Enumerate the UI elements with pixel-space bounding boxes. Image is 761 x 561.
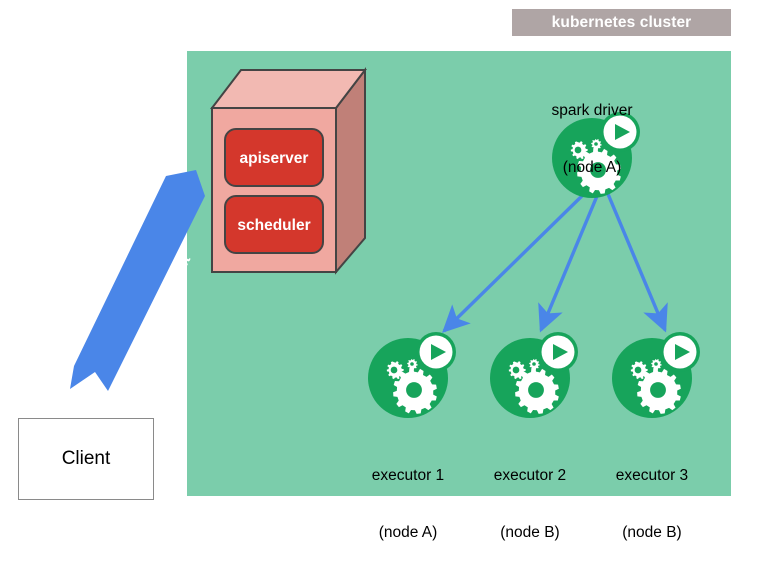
apiserver-label: apiserver [240,150,309,167]
executor-1-title: executor 1 [348,467,468,486]
executor-3-label: executor 3 (node B) [592,429,712,561]
control-plane-cube: apiserver scheduler [212,70,365,272]
scheduler-label: scheduler [237,217,310,234]
connector-driver-executor-3 [608,194,665,330]
spark-submit-arrow [70,170,205,391]
executor-1-label: executor 1 (node A) [348,429,468,561]
executor-2-label: executor 2 (node B) [470,429,590,561]
executor-2-node [490,332,578,418]
executor-1-node [368,332,456,418]
executor-2-title: executor 2 [470,467,590,486]
executor-3-title: executor 3 [592,467,712,486]
connector-driver-executor-1 [444,192,586,331]
spark-driver-label: spark driver (node A) [532,64,652,196]
connector-driver-executor-2 [541,196,597,330]
executor-2-subtitle: (node B) [470,524,590,543]
spark-driver-subtitle: (node A) [532,159,652,178]
executor-1-subtitle: (node A) [348,524,468,543]
spark-gear-icon [368,332,456,418]
executor-3-subtitle: (node B) [592,524,712,543]
spark-gear-icon [612,332,700,418]
spark-driver-title: spark driver [532,102,652,121]
executor-3-node [612,332,700,418]
spark-gear-icon [490,332,578,418]
